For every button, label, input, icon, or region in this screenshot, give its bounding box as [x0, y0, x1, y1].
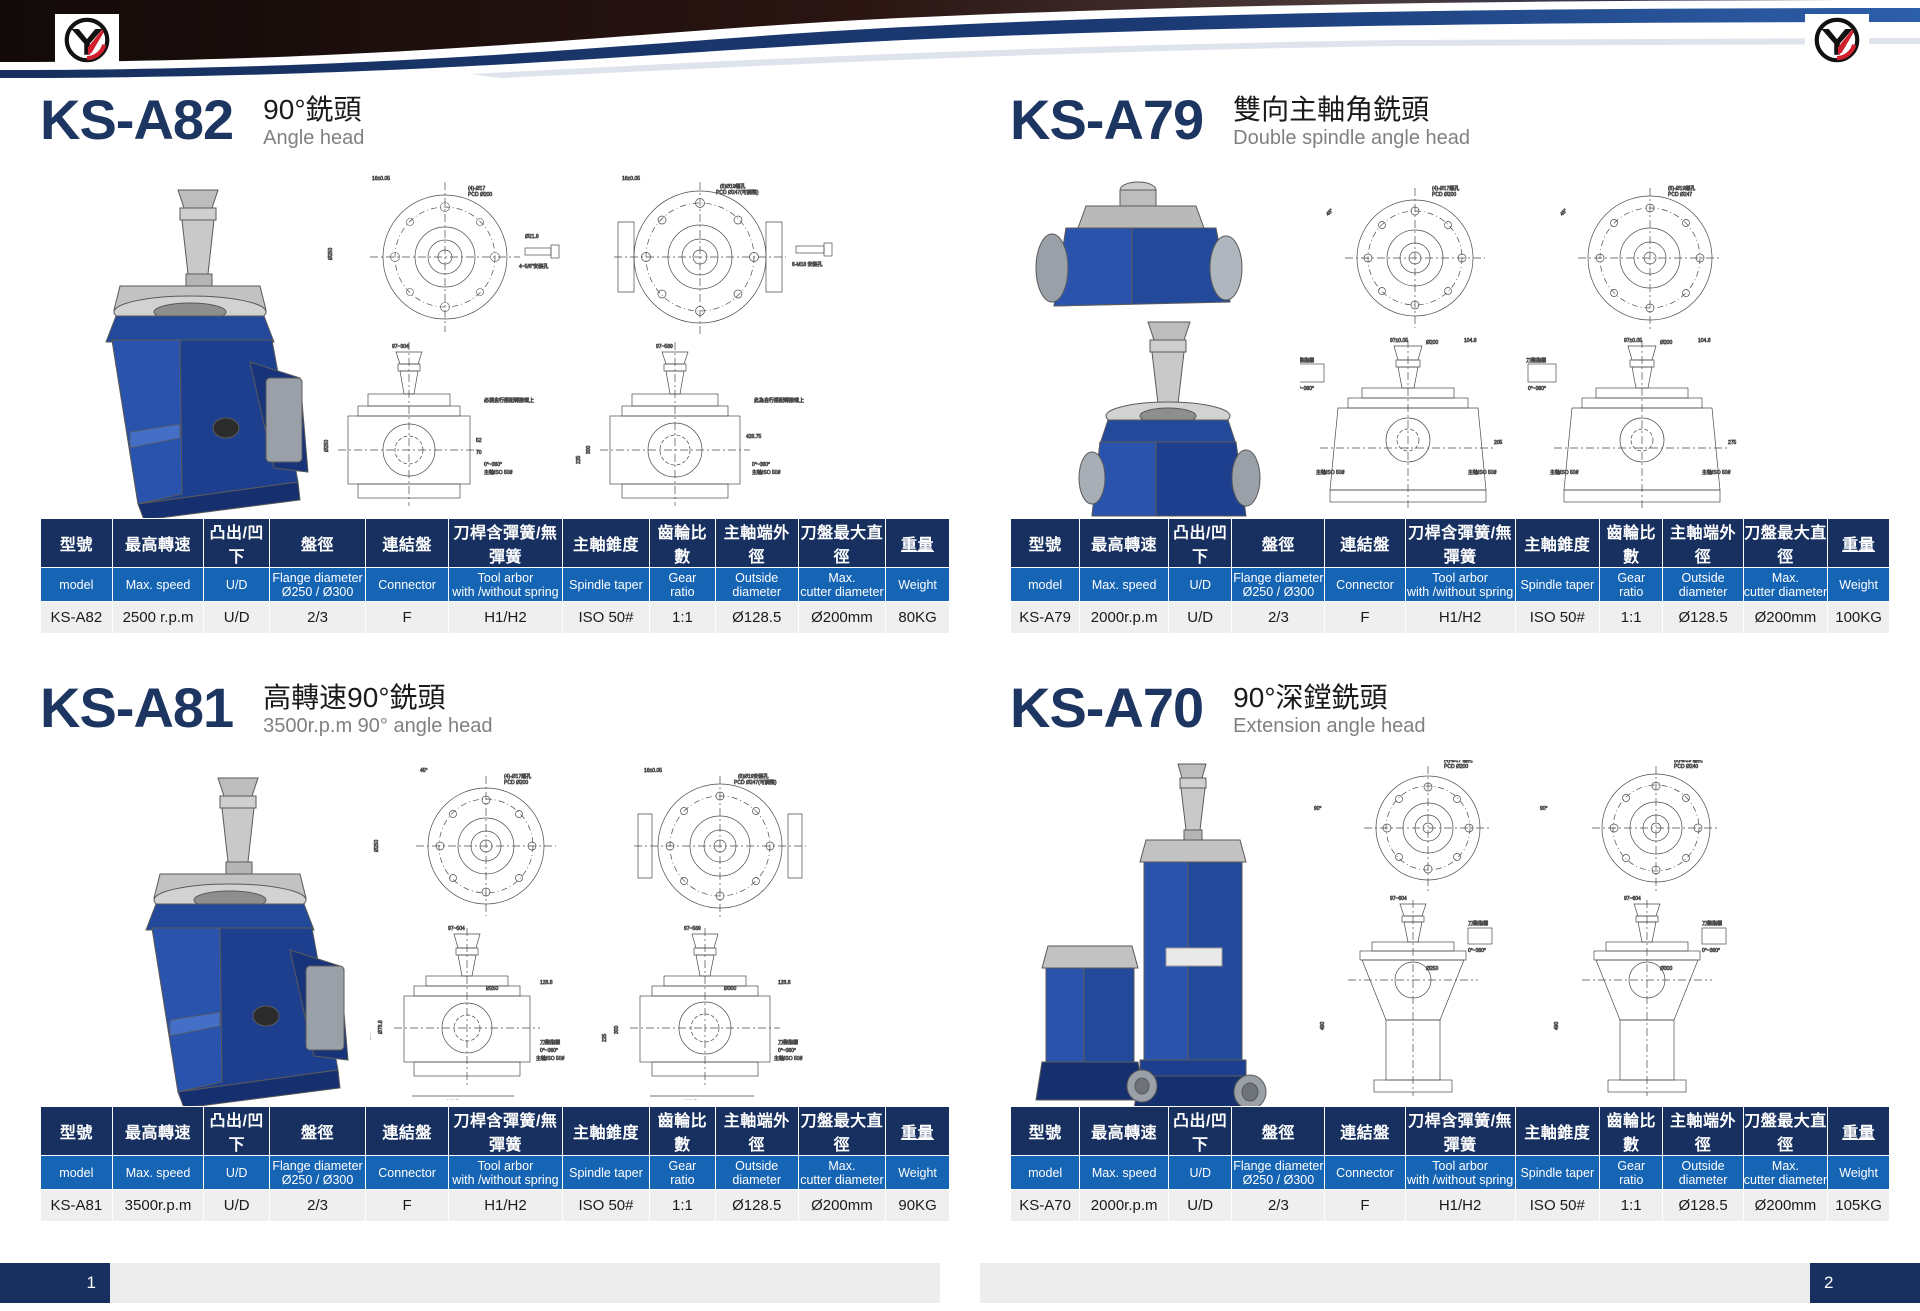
title-chinese: 雙向主軸角銑頭: [1233, 94, 1470, 126]
th-weight: 重量: [1828, 1107, 1890, 1156]
svg-text:PCD Ø200: PCD Ø200: [504, 780, 528, 786]
svg-text:490: 490: [1320, 1021, 1326, 1030]
svg-text:45°: 45°: [1559, 208, 1569, 218]
table-row: KS-A82 2500 r.p.m U/D 2/3 F H1/H2 ISO 50…: [41, 602, 950, 634]
td-max-speed-en: Max. speed: [1080, 1156, 1169, 1190]
svg-text:主軸ISO 50#: 主軸ISO 50#: [1468, 469, 1497, 476]
title-english: Angle head: [263, 126, 364, 150]
product-panel-ks-a70: KS-A70 90°深鏜銑頭 Extension angle head: [1010, 678, 1890, 1248]
page-banner: [0, 0, 1920, 78]
th-spindle-taper: 主軸錐度: [1515, 519, 1600, 568]
cell-flange: 2/3: [269, 1190, 365, 1222]
td-max-speed-en: Max. speed: [112, 568, 204, 602]
svg-text:300: 300: [614, 1025, 620, 1034]
svg-text:(4)-Ø17螺孔: (4)-Ø17螺孔: [1432, 185, 1459, 192]
table-header-english: model Max. speed U/D Flange diameterØ250…: [41, 568, 950, 602]
svg-text:Ø200: Ø200: [1426, 340, 1438, 346]
spec-table-ks-a82: 型號 最高轉速 凸出/凹下 盤徑 連結盤 刀桿含彈簧/無彈簧 主軸錐度 齒輪比數…: [40, 518, 950, 634]
cell-model: KS-A82: [41, 602, 113, 634]
svg-text:Ø300: Ø300: [724, 986, 736, 992]
td-weight-en: Weight: [1828, 1156, 1890, 1190]
cell-gear-ratio: 1:1: [1600, 602, 1663, 634]
svg-text:0°~360°: 0°~360°: [484, 462, 502, 468]
cell-weight: 80KG: [886, 602, 950, 634]
td-gear-ratio-en: Gearratio: [650, 568, 716, 602]
cell-spindle-taper: ISO 50#: [1515, 602, 1600, 634]
th-gear-ratio: 齒輪比數: [650, 1107, 716, 1156]
th-flange-diameter: 盤徑: [269, 519, 365, 568]
cell-max-speed: 2500 r.p.m: [112, 602, 204, 634]
footer-bar-right: [980, 1263, 1810, 1303]
svg-text:97~504: 97~504: [448, 926, 465, 932]
td-tool-arbor-en: Tool arborwith /without spring: [449, 568, 563, 602]
td-flange-en: Flange diameterØ250 / Ø300: [1232, 568, 1325, 602]
td-weight-en: Weight: [886, 1156, 950, 1190]
td-gear-ratio-en: Gearratio: [1600, 1156, 1663, 1190]
th-max-cutter-diameter: 刀盤最大直徑: [798, 1107, 885, 1156]
catalog-sheet: KS-A82 90°銑頭 Angle head: [0, 78, 1920, 1263]
cell-tool-arbor: H1/H2: [449, 1190, 563, 1222]
cell-max-speed: 2000r.p.m: [1080, 602, 1169, 634]
svg-text:0°~360°: 0°~360°: [1702, 948, 1720, 954]
th-tool-arbor: 刀桿含彈簧/無彈簧: [449, 1107, 563, 1156]
td-spindle-taper-en: Spindle taper: [1515, 568, 1600, 602]
th-max-speed: 最高轉速: [112, 519, 204, 568]
th-max-cutter-diameter: 刀盤最大直徑: [1743, 1107, 1828, 1156]
td-outside-diameter-en: Outsidediameter: [1663, 568, 1743, 602]
product-photo: [1020, 172, 1280, 522]
company-logo-left: [55, 14, 119, 66]
svg-text:刀盤指標: 刀盤指標: [778, 1039, 798, 1046]
page-footer: 1 2: [0, 1263, 1920, 1311]
td-tool-arbor-en: Tool arborwith /without spring: [449, 1156, 563, 1190]
td-flange-en: Flange diameterØ250 / Ø300: [1232, 1156, 1325, 1190]
cell-spindle-taper: ISO 50#: [1515, 1190, 1600, 1222]
svg-text:0°~360°: 0°~360°: [1468, 948, 1486, 954]
product-title-ks-a79: KS-A79 雙向主軸角銑頭 Double spindle angle head: [1010, 90, 1890, 166]
svg-text:Ø250: Ø250: [1426, 966, 1438, 972]
svg-text:主軸ISO 50#: 主軸ISO 50#: [536, 1055, 565, 1062]
spec-table-ks-a79: 型號 最高轉速 凸出/凹下 盤徑 連結盤 刀桿含彈簧/無彈簧 主軸錐度 齒輪比數…: [1010, 518, 1890, 634]
td-spindle-taper-en: Spindle taper: [1515, 1156, 1600, 1190]
company-logo-right: [1805, 14, 1869, 66]
th-outside-diameter: 主軸端外徑: [1663, 1107, 1743, 1156]
table-header-english: model Max. speed U/D Flange diameterØ250…: [1011, 568, 1890, 602]
title-chinese: 高轉速90°銑頭: [263, 682, 492, 714]
td-connector-en: Connector: [1325, 1156, 1405, 1190]
svg-text:主軸ISO 50#: 主軸ISO 50#: [1550, 469, 1579, 476]
th-model: 型號: [1011, 1107, 1080, 1156]
svg-text:刀盤指標: 刀盤指標: [1300, 357, 1314, 364]
product-title-ks-a70: KS-A70 90°深鏜銑頭 Extension angle head: [1010, 678, 1890, 754]
figure-ks-a81: (4)-Ø17螺孔 PCD Ø200 45° Ø250: [40, 760, 950, 1130]
cell-max-cutter: Ø200mm: [798, 602, 885, 634]
model-code: KS-A70: [1010, 678, 1203, 738]
svg-text:Ø200: Ø200: [1660, 340, 1672, 346]
td-outside-diameter-en: Outsidediameter: [715, 568, 798, 602]
th-flange-diameter: 盤徑: [1232, 1107, 1325, 1156]
product-photo: [100, 770, 350, 1110]
svg-text:(4)-Ø17螺孔: (4)-Ø17螺孔: [504, 773, 531, 780]
footer-bar-left: [110, 1263, 940, 1303]
svg-text:97±0.05: 97±0.05: [1624, 338, 1642, 344]
cell-ud: U/D: [204, 1190, 270, 1222]
th-gear-ratio: 齒輪比數: [1600, 519, 1663, 568]
td-ud-en: U/D: [204, 568, 270, 602]
td-gear-ratio-en: Gearratio: [650, 1156, 716, 1190]
td-tool-arbor-en: Tool arborwith /without spring: [1405, 1156, 1515, 1190]
cell-max-cutter: Ø200mm: [1743, 1190, 1828, 1222]
svg-text:刀盤指標: 刀盤指標: [1526, 357, 1546, 364]
svg-text:PCD Ø247: PCD Ø247: [1668, 192, 1692, 198]
svg-text:0°~360°: 0°~360°: [1528, 386, 1546, 392]
table-header-chinese: 型號 最高轉速 凸出/凹下 盤徑 連結盤 刀桿含彈簧/無彈簧 主軸錐度 齒輪比數…: [1011, 1107, 1890, 1156]
svg-text:205: 205: [1494, 440, 1503, 446]
technical-drawing-set: (4)-Ø17螺孔 PCD Ø200 45°: [1300, 172, 1890, 512]
svg-text:PCD Ø247(可調整): PCD Ø247(可調整): [734, 779, 777, 786]
page-number-left: 1: [0, 1263, 110, 1303]
svg-text:0°~360°: 0°~360°: [540, 1048, 558, 1054]
th-connector: 連結盤: [366, 519, 449, 568]
table-header-chinese: 型號 最高轉速 凸出/凹下 盤徑 連結盤 刀桿含彈簧/無彈簧 主軸錐度 齒輪比數…: [41, 1107, 950, 1156]
svg-text:6-M18 安装孔: 6-M18 安装孔: [792, 261, 823, 268]
th-ud: 凸出/凹下: [204, 519, 270, 568]
th-weight: 重量: [886, 1107, 950, 1156]
svg-text:Ø250: Ø250: [374, 840, 380, 852]
svg-text:16±0.05: 16±0.05: [644, 768, 662, 774]
td-model-en: model: [1011, 1156, 1080, 1190]
svg-text:97~304: 97~304: [392, 344, 409, 350]
cell-weight: 105KG: [1828, 1190, 1890, 1222]
cell-gear-ratio: 1:1: [1600, 1190, 1663, 1222]
title-chinese: 90°銑頭: [263, 94, 364, 126]
cell-connector: F: [1325, 602, 1405, 634]
th-weight: 重量: [1828, 519, 1890, 568]
td-flange-en: Flange diameterØ250 / Ø300: [269, 1156, 365, 1190]
svg-text:0°~360°: 0°~360°: [1300, 386, 1314, 392]
table-row: KS-A79 2000r.p.m U/D 2/3 F H1/H2 ISO 50#…: [1011, 602, 1890, 634]
td-flange-en: Flange diameterØ250 / Ø300: [269, 568, 365, 602]
technical-drawing-set: (4)-Ø17 PCD Ø200 Ø250 16±0.05 4~5/8"安装孔 …: [320, 172, 940, 512]
cell-gear-ratio: 1:1: [650, 1190, 716, 1222]
svg-text:45°: 45°: [420, 768, 428, 774]
svg-text:(6)-Ø19螺孔: (6)-Ø19螺孔: [1668, 185, 1695, 192]
svg-text:16±0.05: 16±0.05: [622, 176, 640, 182]
table-row: KS-A70 2000r.p.m U/D 2/3 F H1/H2 ISO 50#…: [1011, 1190, 1890, 1222]
figure-ks-a79: (4)-Ø17螺孔 PCD Ø200 45°: [1010, 172, 1890, 542]
th-gear-ratio: 齒輪比數: [650, 519, 716, 568]
svg-text:主軸ISO 50#: 主軸ISO 50#: [774, 1055, 803, 1062]
svg-text:97~604: 97~604: [1390, 896, 1407, 902]
td-ud-en: U/D: [1169, 1156, 1232, 1190]
th-gear-ratio: 齒輪比數: [1600, 1107, 1663, 1156]
svg-text:45°: 45°: [1325, 208, 1335, 218]
table-row: KS-A81 3500r.p.m U/D 2/3 F H1/H2 ISO 50#…: [41, 1190, 950, 1222]
svg-text:300: 300: [586, 445, 592, 454]
svg-text:此為自行搭配轉接環上: 此為自行搭配轉接環上: [754, 397, 804, 404]
company-logo-icon: [1814, 17, 1860, 63]
cell-tool-arbor: H1/H2: [449, 602, 563, 634]
svg-text:128.8: 128.8: [778, 980, 791, 986]
svg-text:刀盤指標: 刀盤指標: [1468, 920, 1488, 927]
td-tool-arbor-en: Tool arborwith /without spring: [1405, 568, 1515, 602]
th-max-speed: 最高轉速: [1080, 1107, 1169, 1156]
th-ud: 凸出/凹下: [1169, 519, 1232, 568]
svg-text:Ø250: Ø250: [324, 440, 330, 452]
td-connector-en: Connector: [1325, 568, 1405, 602]
svg-text:Ø21.8: Ø21.8: [525, 234, 539, 240]
td-spindle-taper-en: Spindle taper: [562, 1156, 649, 1190]
cell-connector: F: [1325, 1190, 1405, 1222]
cell-spindle-taper: ISO 50#: [562, 602, 649, 634]
td-max-cutter-en: Max.cutter diameter: [798, 568, 885, 602]
td-connector-en: Connector: [366, 568, 449, 602]
th-model: 型號: [1011, 519, 1080, 568]
td-ud-en: U/D: [204, 1156, 270, 1190]
td-model-en: model: [41, 1156, 113, 1190]
td-max-speed-en: Max. speed: [112, 1156, 204, 1190]
td-outside-diameter-en: Outsidediameter: [715, 1156, 798, 1190]
svg-text:97~604: 97~604: [1624, 896, 1641, 902]
cell-ud: U/D: [204, 602, 270, 634]
td-outside-diameter-en: Outsidediameter: [1663, 1156, 1743, 1190]
th-flange-diameter: 盤徑: [269, 1107, 365, 1156]
svg-text:主軸ISO 50#: 主軸ISO 50#: [1702, 469, 1731, 476]
svg-text:70: 70: [476, 450, 482, 456]
cell-tool-arbor: H1/H2: [1405, 1190, 1515, 1222]
figure-ks-a70: (4)-Ø17 螺孔 PCD Ø200 90°: [1010, 760, 1890, 1130]
product-title-ks-a81: KS-A81 高轉速90°銑頭 3500r.p.m 90° angle head: [40, 678, 950, 754]
spec-table-ks-a70: 型號 最高轉速 凸出/凹下 盤徑 連結盤 刀桿含彈簧/無彈簧 主軸錐度 齒輪比數…: [1010, 1106, 1890, 1222]
cell-connector: F: [366, 602, 449, 634]
th-outside-diameter: 主軸端外徑: [1663, 519, 1743, 568]
cell-max-cutter: Ø200mm: [1743, 602, 1828, 634]
product-panel-ks-a82: KS-A82 90°銑頭 Angle head: [40, 90, 950, 660]
product-panel-ks-a79: KS-A79 雙向主軸角銑頭 Double spindle angle head: [1010, 90, 1890, 660]
svg-text:490: 490: [1554, 1021, 1560, 1030]
title-chinese: 90°深鏜銑頭: [1233, 682, 1425, 714]
cell-weight: 90KG: [886, 1190, 950, 1222]
td-gear-ratio-en: Gearratio: [1600, 568, 1663, 602]
cell-outside-diameter: Ø128.5: [1663, 1190, 1743, 1222]
td-max-speed-en: Max. speed: [1080, 568, 1169, 602]
cell-flange: 2/3: [269, 602, 365, 634]
svg-text:104.8: 104.8: [1464, 338, 1477, 344]
svg-text:PCD Ø200: PCD Ø200: [1444, 764, 1468, 770]
td-ud-en: U/D: [1169, 568, 1232, 602]
svg-text:Ø78.8: Ø78.8: [378, 1020, 384, 1034]
svg-text:275: 275: [1728, 440, 1737, 446]
cell-model: KS-A79: [1011, 602, 1080, 634]
svg-text:Ø250: Ø250: [328, 248, 334, 260]
table-header-english: model Max. speed U/D Flange diameterØ250…: [41, 1156, 950, 1190]
svg-text:Ø250: Ø250: [486, 986, 498, 992]
spec-table-ks-a81: 型號 最高轉速 凸出/凹下 盤徑 連結盤 刀桿含彈簧/無彈簧 主軸錐度 齒輪比數…: [40, 1106, 950, 1222]
svg-text:16±0.05: 16±0.05: [372, 176, 390, 182]
th-ud: 凸出/凹下: [1169, 1107, 1232, 1156]
th-outside-diameter: 主軸端外徑: [715, 1107, 798, 1156]
cell-weight: 100KG: [1828, 602, 1890, 634]
svg-text:90°: 90°: [1314, 806, 1322, 812]
th-tool-arbor: 刀桿含彈簧/無彈簧: [1405, 1107, 1515, 1156]
svg-text:97±0.05: 97±0.05: [1390, 338, 1408, 344]
svg-text:128.8: 128.8: [540, 980, 553, 986]
technical-drawing-set: (4)-Ø17 螺孔 PCD Ø200 90°: [1310, 760, 1890, 1100]
model-code: KS-A81: [40, 678, 233, 738]
svg-text:0°~360°: 0°~360°: [778, 1048, 796, 1054]
th-model: 型號: [41, 519, 113, 568]
svg-text:90°: 90°: [1540, 806, 1548, 812]
table-header-chinese: 型號 最高轉速 凸出/凹下 盤徑 連結盤 刀桿含彈簧/無彈簧 主軸錐度 齒輪比數…: [41, 519, 950, 568]
cell-flange: 2/3: [1232, 1190, 1325, 1222]
title-english: Double spindle angle head: [1233, 126, 1470, 150]
th-spindle-taper: 主軸錐度: [1515, 1107, 1600, 1156]
svg-text:52: 52: [476, 438, 482, 444]
th-ud: 凸出/凹下: [204, 1107, 270, 1156]
svg-text:(6)Ø19螺孔: (6)Ø19螺孔: [720, 183, 746, 190]
th-outside-diameter: 主軸端外徑: [715, 519, 798, 568]
svg-text:205: 205: [370, 1031, 372, 1040]
title-english: 3500r.p.m 90° angle head: [263, 714, 492, 738]
cell-outside-diameter: Ø128.5: [715, 602, 798, 634]
product-title-ks-a82: KS-A82 90°銑頭 Angle head: [40, 90, 950, 166]
svg-text:(6)Ø19安装孔: (6)Ø19安装孔: [738, 773, 769, 780]
svg-text:225: 225: [602, 1033, 608, 1042]
product-photo: [1020, 760, 1290, 1110]
table-header-chinese: 型號 最高轉速 凸出/凹下 盤徑 連結盤 刀桿含彈簧/無彈簧 主軸錐度 齒輪比數…: [1011, 519, 1890, 568]
td-model-en: model: [41, 568, 113, 602]
td-weight-en: Weight: [886, 568, 950, 602]
th-tool-arbor: 刀桿含彈簧/無彈簧: [449, 519, 563, 568]
th-max-cutter-diameter: 刀盤最大直徑: [798, 519, 885, 568]
td-max-cutter-en: Max.cutter diameter: [1743, 568, 1828, 602]
svg-text:225: 225: [576, 455, 582, 464]
svg-text:104.8: 104.8: [1698, 338, 1711, 344]
cell-model: KS-A70: [1011, 1190, 1080, 1222]
cell-max-cutter: Ø200mm: [798, 1190, 885, 1222]
svg-text:刀盤指標: 刀盤指標: [540, 1039, 560, 1046]
svg-text:必須自行搭配轉接環上: 必須自行搭配轉接環上: [484, 397, 534, 404]
th-spindle-taper: 主軸錐度: [562, 1107, 649, 1156]
cell-tool-arbor: H1/H2: [1405, 602, 1515, 634]
th-max-cutter-diameter: 刀盤最大直徑: [1743, 519, 1828, 568]
th-max-speed: 最高轉速: [1080, 519, 1169, 568]
th-connector: 連結盤: [366, 1107, 449, 1156]
cell-flange: 2/3: [1232, 602, 1325, 634]
th-spindle-taper: 主軸錐度: [562, 519, 649, 568]
svg-text:Ø300: Ø300: [1660, 966, 1672, 972]
svg-text:97~569: 97~569: [656, 344, 673, 350]
th-model: 型號: [41, 1107, 113, 1156]
svg-text:主軸ISO 50#: 主軸ISO 50#: [484, 469, 513, 476]
svg-text:主軸ISO 50#: 主軸ISO 50#: [752, 469, 781, 476]
svg-text:PCD Ø247(可調整): PCD Ø247(可調整): [716, 189, 759, 196]
product-photo: [60, 182, 310, 522]
company-logo-icon: [64, 17, 110, 63]
th-tool-arbor: 刀桿含彈簧/無彈簧: [1405, 519, 1515, 568]
technical-drawing-set: (4)-Ø17螺孔 PCD Ø200 45° Ø250: [370, 760, 940, 1100]
svg-text:PCD Ø240: PCD Ø240: [1674, 764, 1698, 770]
td-weight-en: Weight: [1828, 568, 1890, 602]
model-code: KS-A82: [40, 90, 233, 150]
cell-connector: F: [366, 1190, 449, 1222]
cell-max-speed: 2000r.p.m: [1080, 1190, 1169, 1222]
td-spindle-taper-en: Spindle taper: [562, 568, 649, 602]
cell-gear-ratio: 1:1: [650, 602, 716, 634]
figure-ks-a82: (4)-Ø17 PCD Ø200 Ø250 16±0.05 4~5/8"安装孔 …: [40, 172, 950, 542]
cell-outside-diameter: Ø128.5: [715, 1190, 798, 1222]
cell-model: KS-A81: [41, 1190, 113, 1222]
product-panel-ks-a81: KS-A81 高轉速90°銑頭 3500r.p.m 90° angle head: [40, 678, 950, 1248]
model-code: KS-A79: [1010, 90, 1203, 150]
page-number-right: 2: [1810, 1263, 1920, 1303]
svg-text:PCD Ø200: PCD Ø200: [468, 192, 492, 198]
svg-text:4~5/8"安装孔: 4~5/8"安装孔: [519, 263, 548, 270]
th-flange-diameter: 盤徑: [1232, 519, 1325, 568]
td-max-cutter-en: Max.cutter diameter: [798, 1156, 885, 1190]
td-model-en: model: [1011, 568, 1080, 602]
th-connector: 連結盤: [1325, 1107, 1405, 1156]
cell-max-speed: 3500r.p.m: [112, 1190, 204, 1222]
th-max-speed: 最高轉速: [112, 1107, 204, 1156]
svg-text:PCD Ø200: PCD Ø200: [1432, 192, 1456, 198]
cell-ud: U/D: [1169, 602, 1232, 634]
cell-spindle-taper: ISO 50#: [562, 1190, 649, 1222]
th-weight: 重量: [886, 519, 950, 568]
th-connector: 連結盤: [1325, 519, 1405, 568]
svg-text:0°~360°: 0°~360°: [752, 462, 770, 468]
svg-text:主軸ISO 50#: 主軸ISO 50#: [1316, 469, 1345, 476]
cell-outside-diameter: Ø128.5: [1663, 602, 1743, 634]
cell-ud: U/D: [1169, 1190, 1232, 1222]
svg-text:97~569: 97~569: [684, 926, 701, 932]
td-connector-en: Connector: [366, 1156, 449, 1190]
td-max-cutter-en: Max.cutter diameter: [1743, 1156, 1828, 1190]
svg-text:428.75: 428.75: [746, 434, 762, 440]
table-header-english: model Max. speed U/D Flange diameterØ250…: [1011, 1156, 1890, 1190]
title-english: Extension angle head: [1233, 714, 1425, 738]
svg-text:刀盤指標: 刀盤指標: [1702, 920, 1722, 927]
